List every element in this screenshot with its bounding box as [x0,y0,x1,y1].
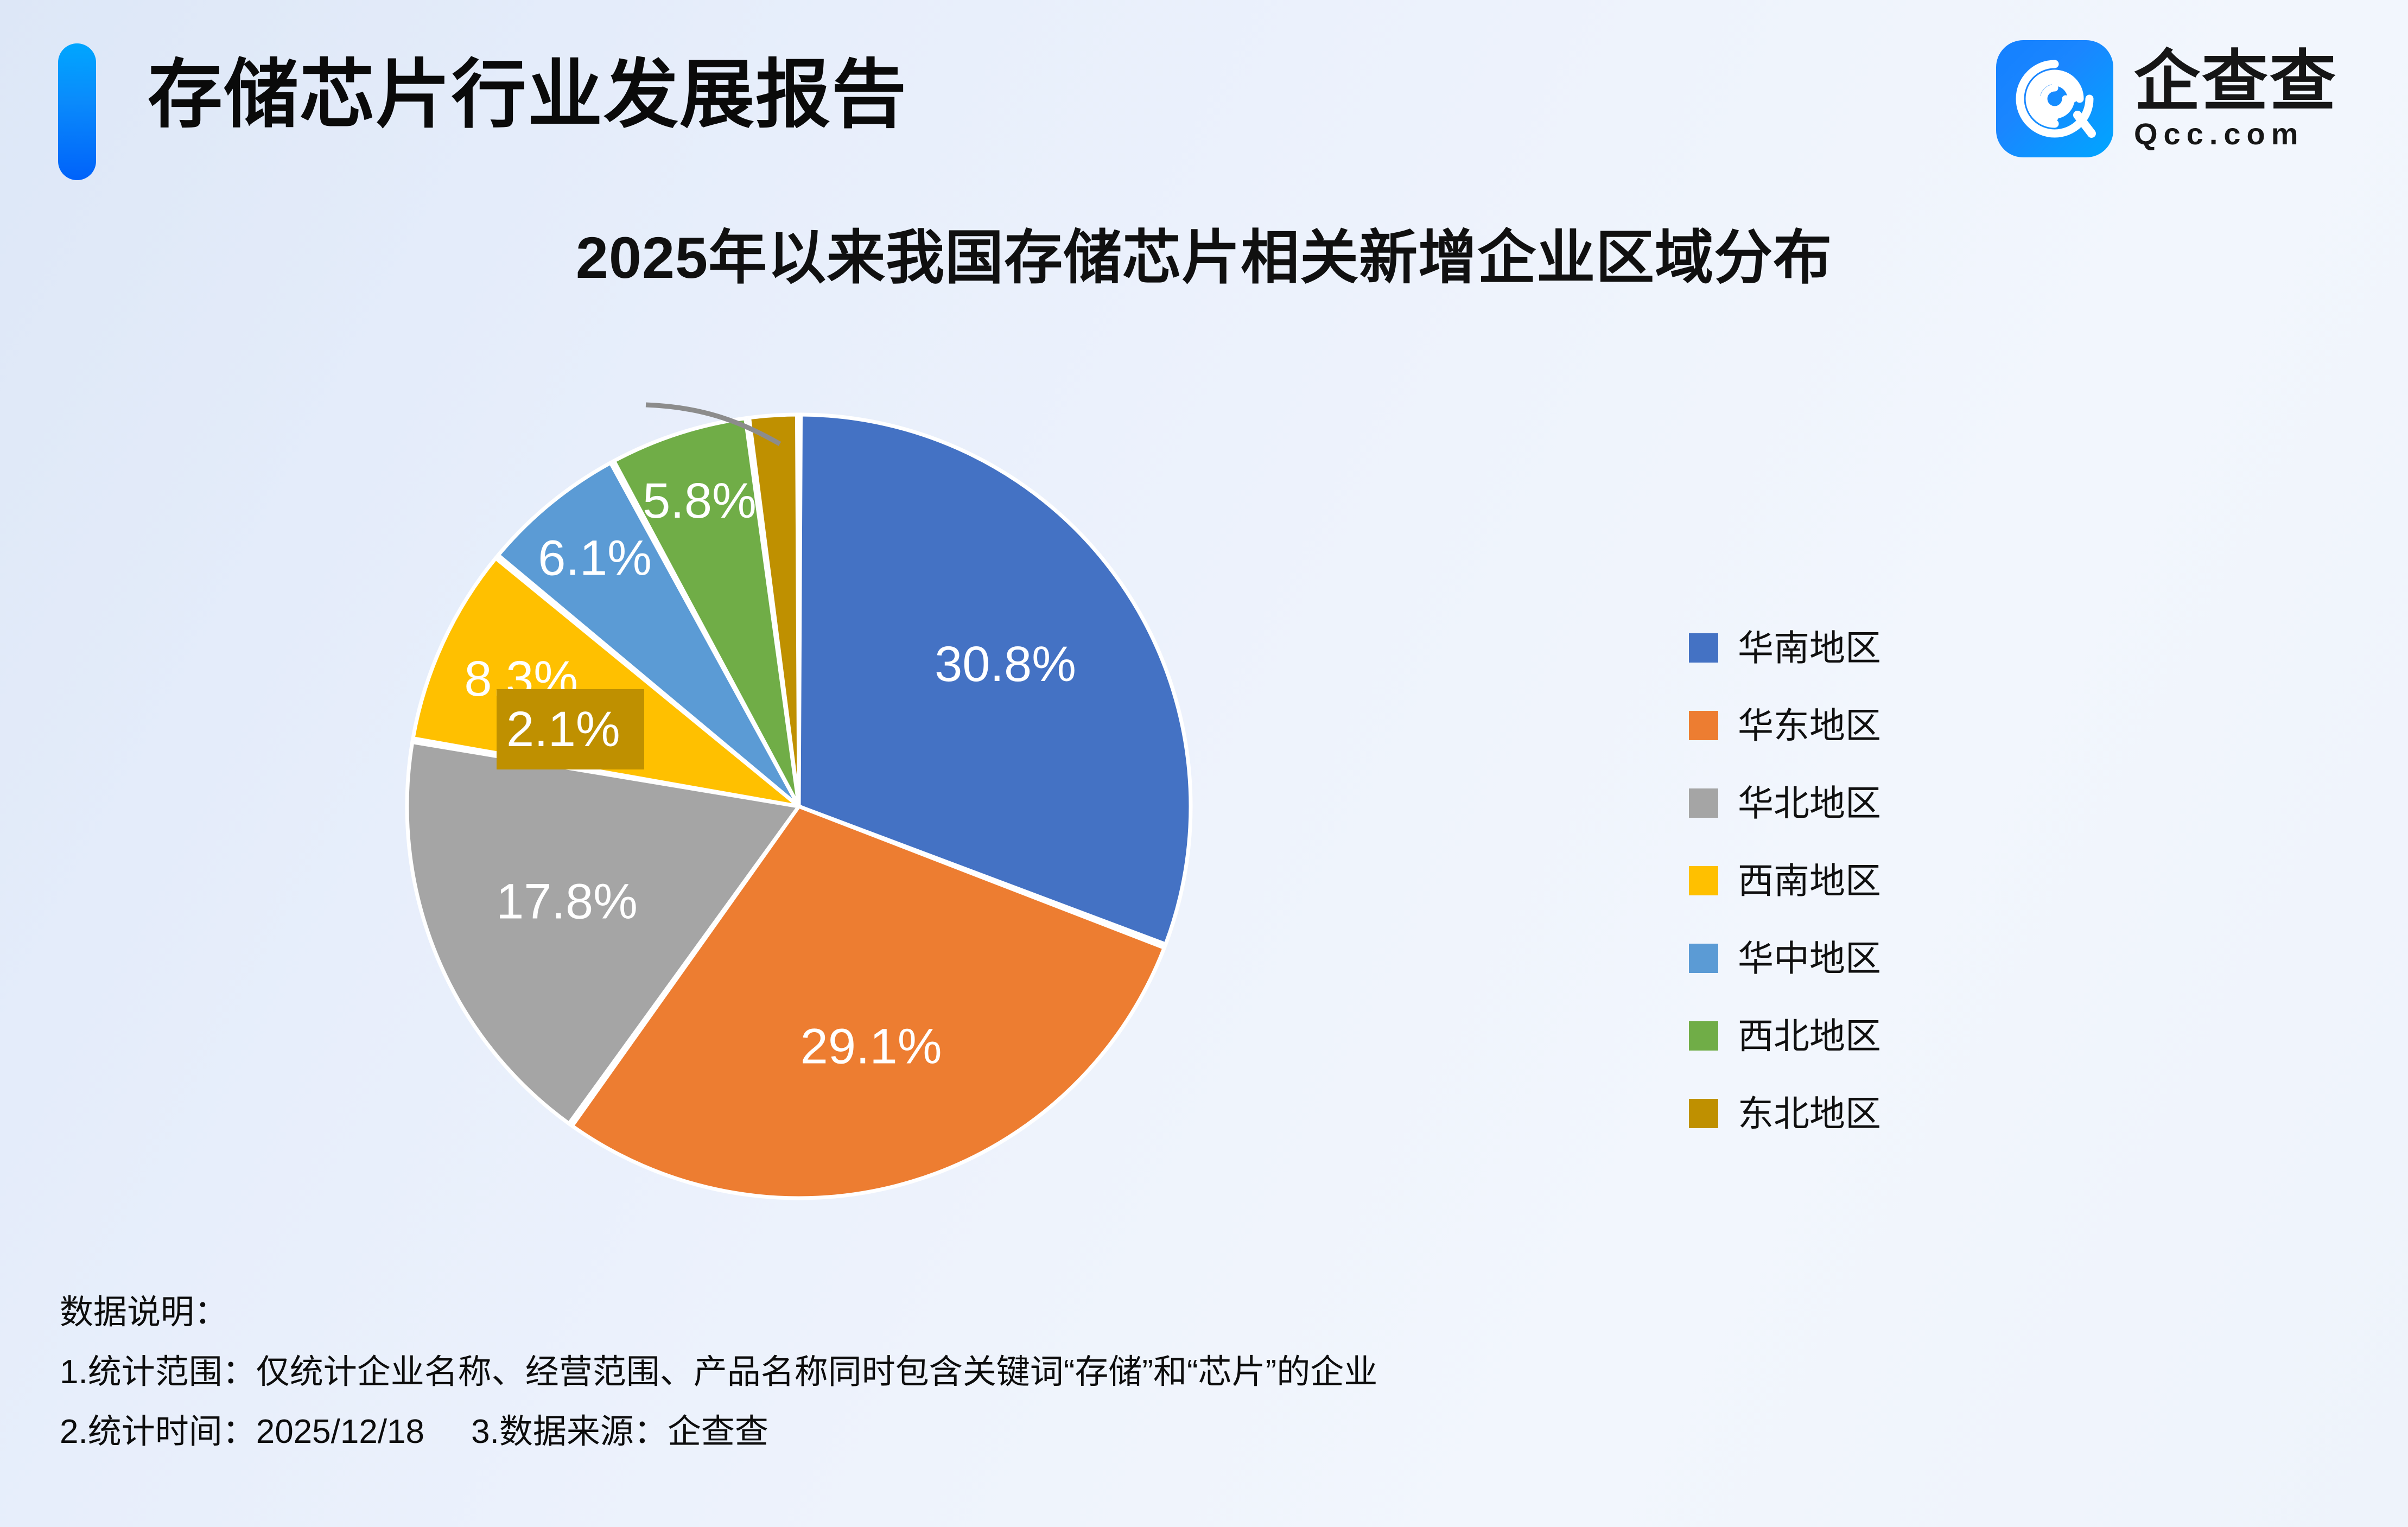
pie-slice-label: 6.1% [538,531,652,586]
legend-item[interactable]: 华北地区 [1689,764,2069,842]
legend-item-label: 东北地区 [1738,1093,1881,1134]
legend-item[interactable]: 华中地区 [1689,919,2069,997]
brand-domain: Qcc.com [2134,117,2337,151]
legend-swatch-icon [1689,944,1718,973]
footnote-heading: 数据说明： [60,1294,2285,1331]
brand-name: 企查查 [2134,47,2337,116]
pie-slices [407,415,1191,1198]
pie-slice-label: 5.8% [643,473,757,529]
footnotes: 数据说明： 1.统计范围：仅统计企业名称、经营范围、产品名称同时包含关键词“存储… [60,1294,2285,1450]
legend-swatch-icon [1689,1099,1718,1128]
qcc-spiral-q-icon [1996,40,2113,157]
chart-title: 2025年以来我国存储芯片相关新增企业区域分布 [0,220,2408,296]
legend-swatch-icon [1689,788,1718,818]
callout-label: 2.1% [506,702,620,756]
legend-item-label: 华东地区 [1738,705,1881,746]
callout-badge-northeast: 2.1% [497,689,644,769]
legend-item-label: 西南地区 [1738,861,1881,901]
legend-swatch-icon [1689,1021,1718,1051]
title-accent-bar [58,43,96,180]
legend-item[interactable]: 东北地区 [1689,1074,2069,1152]
footnote-time-source: 2.统计时间：2025/12/18 3.数据来源：企查查 [60,1414,2285,1450]
legend-item-label: 华南地区 [1738,628,1881,668]
legend-item[interactable]: 华南地区 [1689,609,2069,686]
brand-logo: 企查查 Qcc.com [1996,34,2337,164]
footnote-scope: 1.统计范围：仅统计企业名称、经营范围、产品名称同时包含关键词“存储”和“芯片”… [60,1354,2285,1391]
legend-swatch-icon [1689,866,1718,895]
legend-item[interactable]: 西南地区 [1689,842,2069,919]
chart-legend: 华南地区华东地区华北地区西南地区华中地区西北地区东北地区 [1689,609,2069,1152]
page-header: 存储芯片行业发展报告 企查查 Qcc.com [0,0,2408,195]
pie-slice-label: 30.8% [935,637,1076,692]
legend-item-label: 华中地区 [1738,938,1881,978]
legend-item[interactable]: 华东地区 [1689,686,2069,764]
legend-swatch-icon [1689,633,1718,663]
legend-item[interactable]: 西北地区 [1689,997,2069,1074]
pie-slice-label: 29.1% [800,1019,942,1074]
legend-item-label: 西北地区 [1738,1016,1881,1056]
brand-text: 企查查 Qcc.com [2134,47,2337,151]
pie-slice-label: 17.8% [496,874,638,930]
legend-swatch-icon [1689,711,1718,740]
legend-item-label: 华北地区 [1738,783,1881,823]
page-title: 存储芯片行业发展报告 [148,33,907,157]
